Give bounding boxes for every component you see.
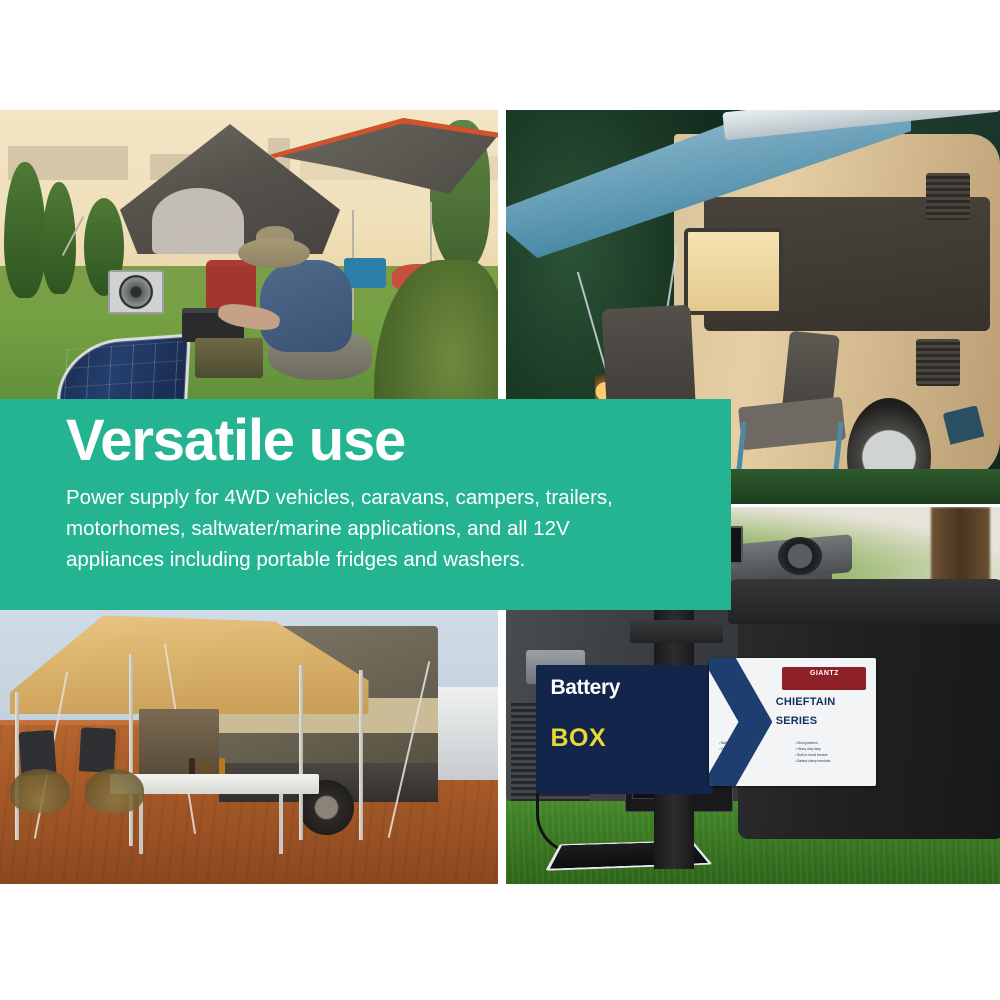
person-torso bbox=[260, 260, 352, 352]
feature-list-left: Battery voltage indicator Dual USB charg… bbox=[719, 740, 791, 773]
camp-chair bbox=[79, 727, 116, 773]
battery-label-line-2: BOX bbox=[550, 726, 718, 751]
outback-camper-trailer-photo bbox=[0, 610, 498, 884]
awning-pole bbox=[129, 654, 133, 846]
battery-box-lid bbox=[728, 579, 1000, 624]
chieftain-series-sticker: GIANTZ CHIEFTAIN SERIES Battery voltage … bbox=[709, 658, 877, 786]
feature-checklist: Battery voltage indicator Dual USB charg… bbox=[719, 740, 867, 773]
tent-door-panel bbox=[152, 188, 244, 254]
awning-pole bbox=[299, 665, 303, 840]
spinifex-bush bbox=[85, 769, 145, 813]
description-line-1: Power supply for 4WD vehicles, caravans,… bbox=[66, 482, 706, 513]
portable-power-box bbox=[195, 338, 263, 378]
series-title-line-1: CHIEFTAIN bbox=[776, 696, 873, 708]
description-line-2: motorhomes, saltwater/marine application… bbox=[66, 513, 706, 544]
bottle bbox=[219, 758, 225, 776]
caravan-window bbox=[684, 228, 783, 315]
strap-buckle bbox=[630, 620, 724, 643]
bottle bbox=[189, 758, 195, 776]
feature-item: Battery clamp terminals bbox=[795, 758, 867, 764]
battery-label-line-1: Battery bbox=[550, 677, 718, 698]
page-title: Versatile use bbox=[66, 412, 405, 470]
series-title-line-2: SERIES bbox=[776, 715, 873, 727]
awning-pole bbox=[15, 692, 19, 840]
ventilation-fan bbox=[108, 270, 164, 314]
bucket-hat bbox=[238, 238, 310, 268]
caravan-vent bbox=[926, 173, 970, 220]
panel-description: Power supply for 4WD vehicles, caravans,… bbox=[66, 482, 706, 575]
caravan-vent bbox=[916, 339, 960, 386]
versatile-use-panel: Versatile use Power supply for 4WD vehic… bbox=[0, 399, 731, 610]
feature-item: Anderson style plug bbox=[719, 758, 791, 764]
cigarette-socket[interactable] bbox=[778, 537, 822, 575]
spinifex-bush bbox=[10, 769, 70, 813]
giantz-brand-logo: GIANTZ bbox=[782, 667, 866, 690]
description-line-3: appliances including portable fridges an… bbox=[66, 544, 706, 575]
awning-pole bbox=[359, 670, 363, 840]
table-leg bbox=[279, 794, 283, 854]
feature-list-right: Strong latches Heavy duty strap Built in… bbox=[795, 740, 867, 773]
marketing-banner: Battery BOX GIANTZ CHIEFTAIN SERIES Batt… bbox=[0, 0, 1000, 1000]
folding-chair-front bbox=[733, 323, 852, 488]
